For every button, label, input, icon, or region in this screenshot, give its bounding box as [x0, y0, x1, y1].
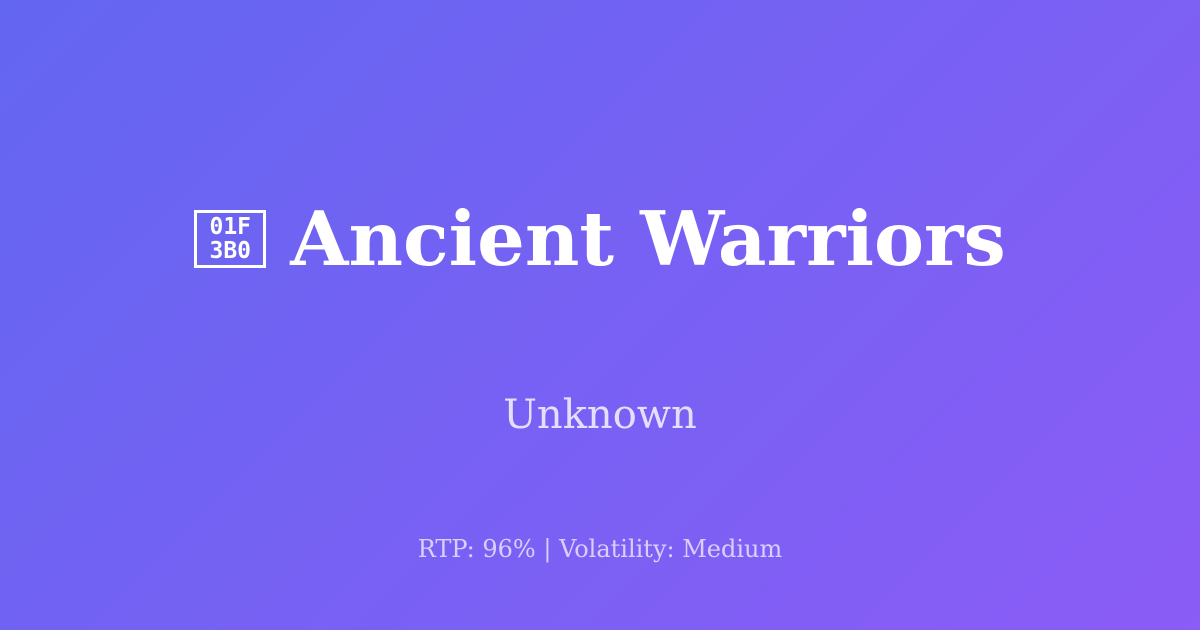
page-subtitle: Unknown [503, 391, 697, 439]
og-preview-card: 01F 3B0 Ancient Warriors Unknown RTP: 96… [0, 0, 1200, 630]
footer-block: RTP: 96% | Volatility: Medium [0, 535, 1200, 564]
game-meta-text: RTP: 96% | Volatility: Medium [0, 535, 1200, 564]
slot-machine-icon: 01F 3B0 [194, 210, 266, 268]
tofu-codepoint-line-2: 3B0 [209, 239, 251, 263]
tofu-codepoint-line-1: 01F [209, 215, 251, 239]
title-row: 01F 3B0 Ancient Warriors [0, 149, 1200, 328]
page-title: Ancient Warriors [290, 200, 1005, 279]
